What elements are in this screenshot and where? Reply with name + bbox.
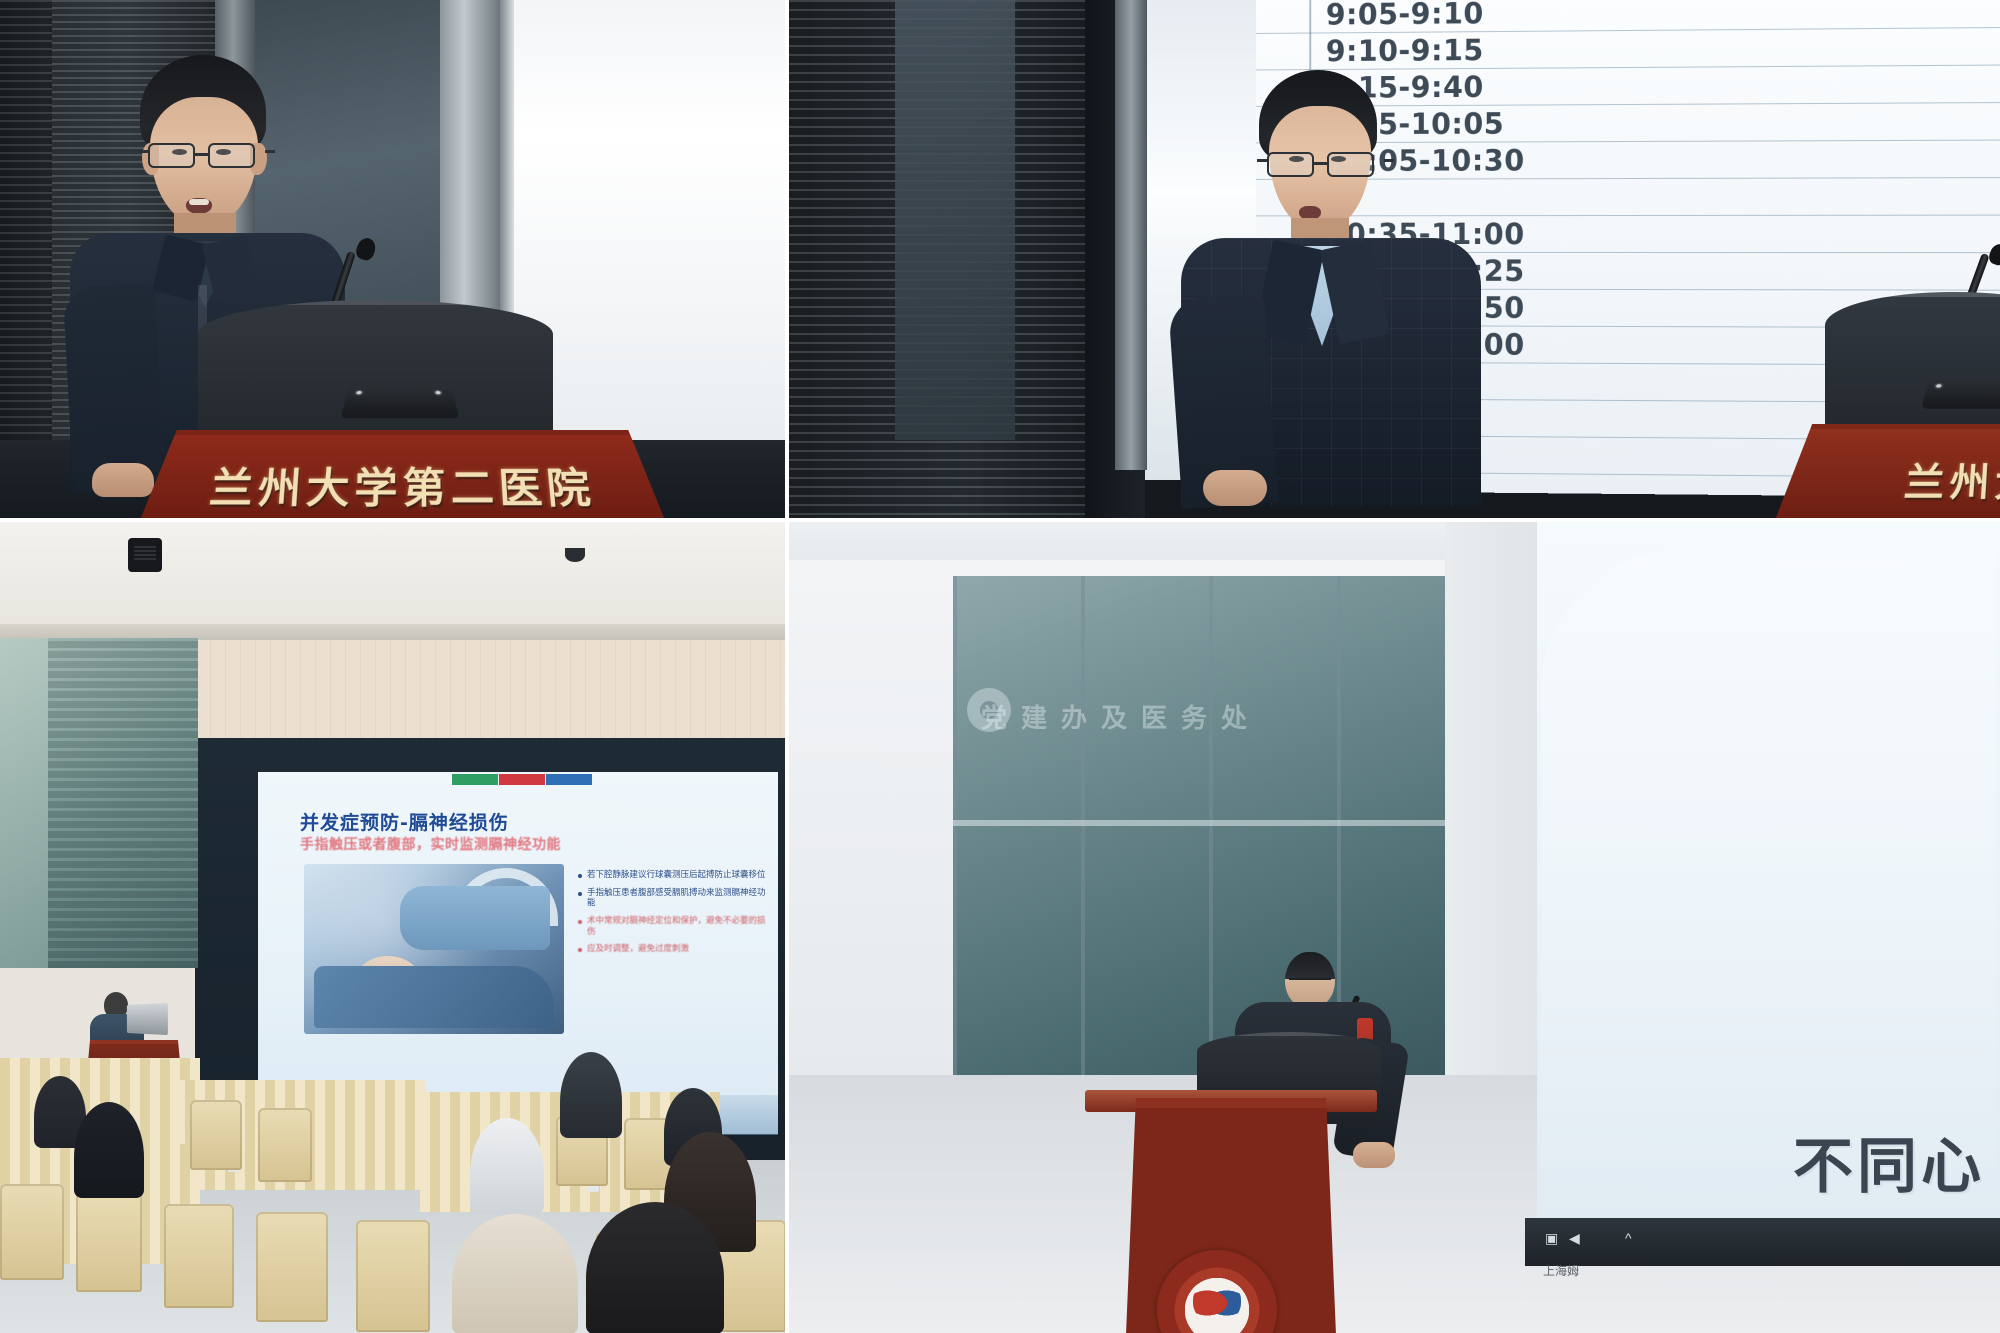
panel-top-right: 9:05-9:109:10-9:159:15-9:409:45-10:0510:… <box>785 0 2000 520</box>
bullet-dot <box>578 948 582 952</box>
surgical-drape-lower <box>314 966 554 1028</box>
slide-surface <box>1541 550 1996 1170</box>
glass-frosted-band <box>953 820 1465 826</box>
glasses-temple-right <box>1384 159 1394 162</box>
glasses-bridge <box>1314 162 1327 165</box>
eyeglasses <box>1265 152 1385 178</box>
eyeglasses <box>1289 978 1331 989</box>
slide-tag-red <box>499 774 545 785</box>
slide-bullet: 手指触压患者腹部感受膈肌搏动来监测膈神经功能 <box>578 888 768 909</box>
projector-taskbar <box>1525 1218 2000 1266</box>
wood-wall-panel <box>195 640 785 740</box>
chair <box>190 1100 242 1170</box>
schedule-row: 9:10-9:15 <box>1256 28 2000 70</box>
glasses-temple-left <box>138 150 148 153</box>
indicator-dot <box>1936 384 1941 387</box>
glass-wall <box>953 576 1465 1076</box>
bullet-dot <box>578 920 582 924</box>
teeth <box>189 199 209 205</box>
glass-partition-edge <box>0 638 48 968</box>
bullet-dot <box>578 874 582 878</box>
window-icon[interactable]: ▣ <box>1545 1230 1558 1247</box>
lens-left <box>1267 152 1314 177</box>
collage-seam-vertical <box>785 0 789 1333</box>
slide-photo <box>304 864 564 1034</box>
eyeglasses <box>146 143 266 169</box>
bullet-text: 应及时调整，避免过度刺激 <box>587 944 689 955</box>
speaker-hand <box>1353 1142 1395 1168</box>
glass-partition <box>895 0 1015 440</box>
glasses-bridge <box>195 153 208 156</box>
pillar <box>1115 0 1147 470</box>
slide-subtitle: 手指触压或者腹部，实时监测膈神经功能 <box>300 834 561 854</box>
bullet-text: 若下腔静脉建议行球囊测压后起搏防止球囊移位 <box>587 870 766 881</box>
panel-top-left: 兰州大学第二医院 <box>0 0 785 520</box>
arm-left <box>63 283 166 493</box>
back-icon[interactable]: ◀ <box>1569 1230 1580 1247</box>
hand-left <box>92 463 154 497</box>
panel-bottom-left: 并发症预防-膈神经损伤 手指触压或者腹部，实时监测膈神经功能 若下腔静脉建议行球… <box>0 520 785 1333</box>
chair <box>356 1220 430 1332</box>
podium-inscription: 兰州大学第二医院 <box>1769 451 2000 507</box>
slide-bullet: 若下腔静脉建议行球囊测压后起搏防止球囊移位 <box>578 870 768 881</box>
glasses-temple-left <box>1257 159 1267 162</box>
slide-tag-blue <box>546 774 592 785</box>
hand-left <box>1203 470 1267 506</box>
collage-seam-horizontal <box>0 518 2000 522</box>
lens-right <box>1327 152 1374 177</box>
lectern-front-panel: 兰州大学第二医院 <box>140 430 665 520</box>
indicator-dot <box>435 391 440 394</box>
slide-bullet-list: 若下腔静脉建议行球囊测压后起搏防止球囊移位手指触压患者腹部感受膈肌搏动来监测膈神… <box>578 870 768 962</box>
ceiling <box>0 520 785 640</box>
chair <box>256 1212 328 1322</box>
dome-camera-icon <box>565 548 585 562</box>
chair <box>258 1108 312 1182</box>
lectern-monitor <box>198 300 553 448</box>
chair <box>0 1184 64 1280</box>
indicator-dot <box>356 391 361 394</box>
glass-wall-text: 党建办及医务处 <box>981 698 1451 735</box>
lens-left <box>148 143 195 168</box>
slide-title: 不同心 <box>1793 1118 1985 1205</box>
panel-bottom-right: 党建办及医务处 不同心 ▣ ◀ ^ 上海姆 <box>785 520 2000 1333</box>
slide-accent-bar <box>452 774 592 785</box>
lens-right <box>208 143 255 168</box>
lectern-monitor <box>1825 292 2000 442</box>
speaker-figure <box>1185 70 1475 490</box>
chair <box>76 1192 142 1292</box>
slide-bullet: 术中常规对膈神经定位和保护，避免不必要的损伤 <box>578 916 768 937</box>
photo-collage: 兰州大学第二医院 9:05-9:109:10-9:159:15-9:409:45… <box>0 0 2000 1333</box>
presenter-laptop <box>127 1003 168 1035</box>
slide-tag-green <box>452 774 498 785</box>
schedule-time: 9:05-9:10 <box>1326 0 1484 31</box>
wall-speaker-icon <box>128 538 162 572</box>
glasses-temple-right <box>265 150 275 153</box>
schedule-time: 9:10-9:15 <box>1326 33 1484 68</box>
surgical-drape-upper <box>400 886 550 950</box>
slide-title: 并发症预防-膈神经损伤 <box>300 808 509 835</box>
bullet-text: 术中常规对膈神经定位和保护，避免不必要的损伤 <box>587 916 768 937</box>
taskbar-status-text: 上海姆 <box>1543 1262 1579 1279</box>
lectern-control-panel <box>341 386 459 418</box>
chair <box>164 1204 234 1308</box>
podium-inscription: 兰州大学第二医院 <box>135 455 670 515</box>
bullet-text: 手指触压患者腹部感受膈肌搏动来监测膈神经功能 <box>587 888 768 909</box>
bullet-dot <box>578 892 582 896</box>
slide-bullet: 应及时调整，避免过度刺激 <box>578 944 768 955</box>
lectern-front-panel: 兰州大学第二医院 <box>1775 424 2000 520</box>
chevron-up-icon[interactable]: ^ <box>1625 1230 1632 1246</box>
